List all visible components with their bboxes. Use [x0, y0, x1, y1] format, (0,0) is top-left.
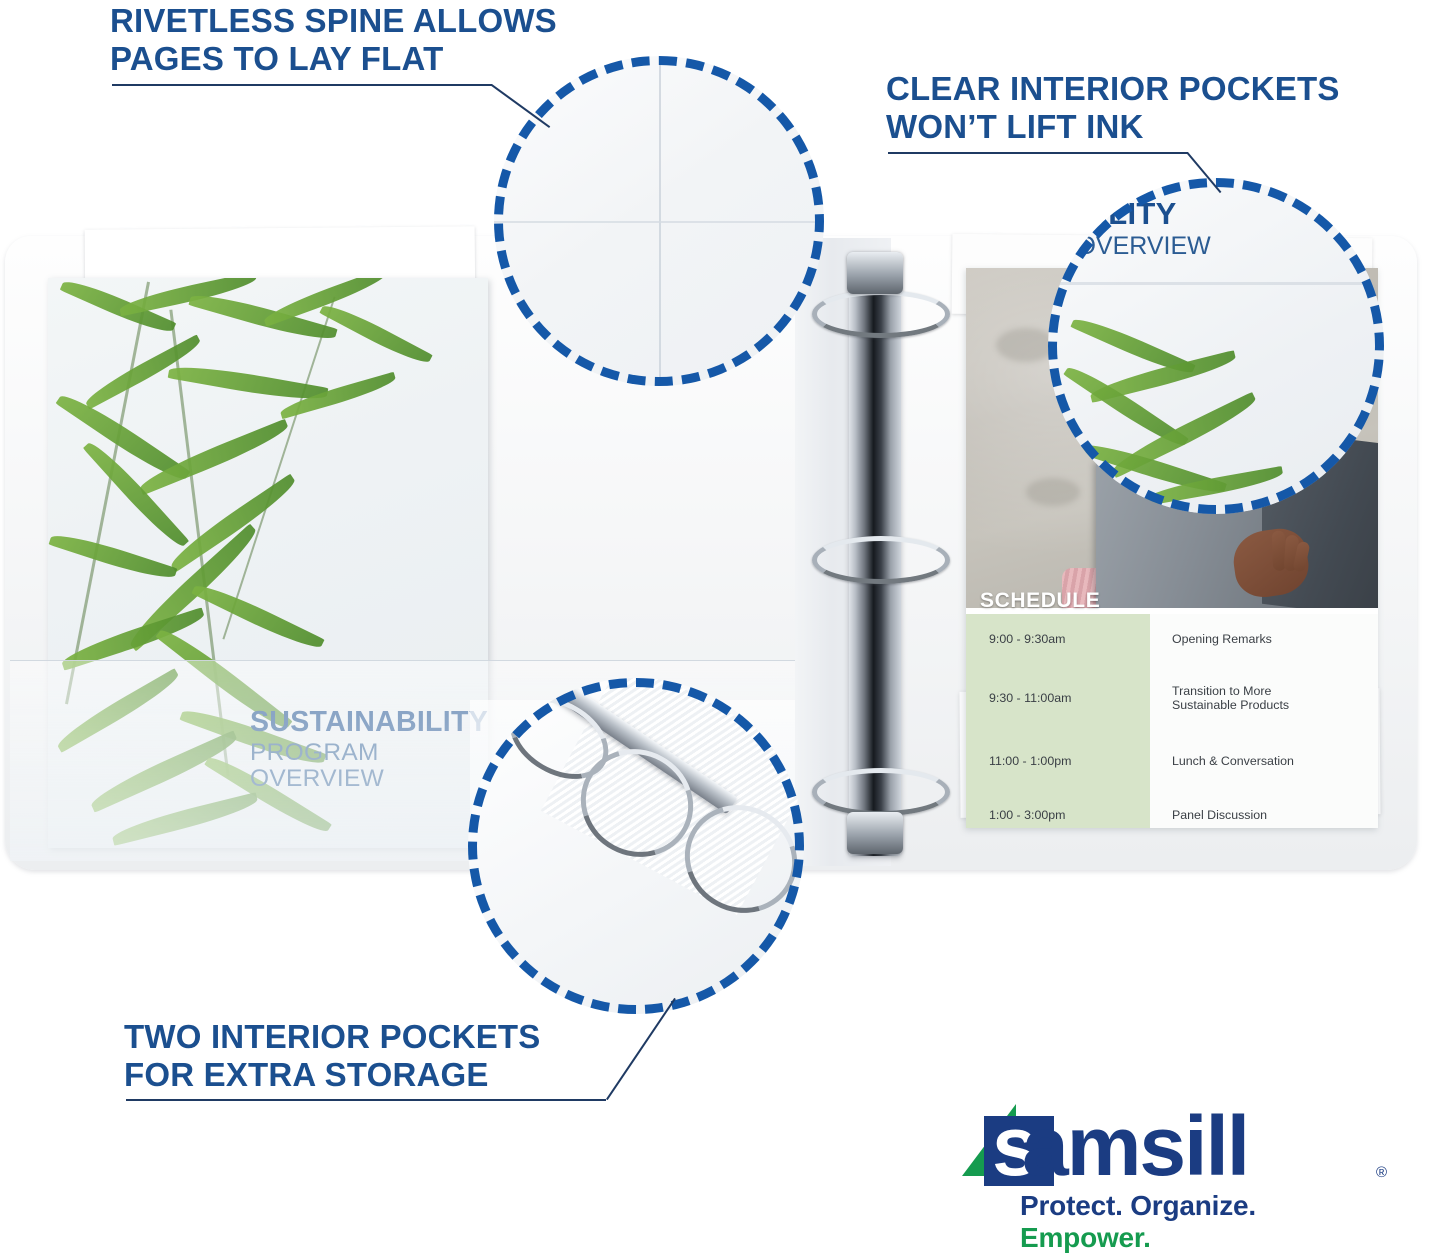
- callout-line-1: RIVETLESS SPINE ALLOWS: [110, 2, 557, 40]
- ring-clamp-top: [847, 252, 903, 294]
- schedule-time: 9:00 - 9:30am: [989, 632, 1065, 646]
- schedule-item: Panel Discussion: [1172, 808, 1267, 822]
- binder-ring-bottom: [812, 768, 950, 816]
- logo-wordmark: amsill: [1022, 1102, 1248, 1190]
- logo-tagline: Protect. Organize. Empower.: [1020, 1190, 1392, 1254]
- schedule-item-line2: Sustainable Products: [1172, 698, 1289, 712]
- samsill-logo: s amsill ® Protect. Organize. Empower.: [962, 1102, 1392, 1220]
- schedule-item-column: Opening Remarks Transition to More Susta…: [1150, 614, 1378, 828]
- callout-rule-bottom-left: [126, 1099, 606, 1101]
- callout-line-1: CLEAR INTERIOR POCKETS: [886, 70, 1340, 108]
- infographic-canvas: SUSTAINABILITY PROGRAM OVERVIEW: [0, 0, 1445, 1227]
- table-row: 9:30 - 11:00am: [966, 664, 1150, 732]
- schedule-item: Opening Remarks: [1172, 632, 1272, 646]
- callout-rivetless-spine: RIVETLESS SPINE ALLOWS PAGES TO LAY FLAT: [110, 2, 557, 79]
- table-row: 1:00 - 3:00pm: [966, 790, 1150, 828]
- schedule-time: 1:00 - 3:00pm: [989, 808, 1065, 822]
- table-row: 9:00 - 9:30am: [966, 614, 1150, 664]
- callout-two-pockets: TWO INTERIOR POCKETS FOR EXTRA STORAGE: [124, 1018, 541, 1095]
- schedule-item-line1: Transition to More: [1172, 684, 1289, 698]
- binder-ring-middle: [812, 536, 950, 584]
- zoom-circle-border-rings: [468, 678, 804, 1014]
- callout-line-1: TWO INTERIOR POCKETS: [124, 1018, 541, 1056]
- table-row: Panel Discussion: [1150, 790, 1378, 828]
- table-row: Lunch & Conversation: [1150, 732, 1378, 790]
- table-row: Transition to More Sustainable Products: [1150, 664, 1378, 732]
- schedule-time: 9:30 - 11:00am: [989, 691, 1071, 705]
- binder-ring-top: [812, 290, 950, 338]
- schedule-item: Lunch & Conversation: [1172, 754, 1294, 768]
- tagline-blue: Protect. Organize.: [1020, 1190, 1256, 1221]
- registered-trademark-icon: ®: [1376, 1164, 1387, 1181]
- callout-line-2: FOR EXTRA STORAGE: [124, 1056, 541, 1094]
- ring-clamp-bottom: [847, 812, 903, 854]
- table-row: Opening Remarks: [1150, 614, 1378, 664]
- schedule-time-column: 9:00 - 9:30am 9:30 - 11:00am 11:00 - 1:0…: [966, 614, 1150, 828]
- callout-clear-pockets: CLEAR INTERIOR POCKETS WON’T LIFT INK: [886, 70, 1340, 147]
- table-row: 11:00 - 1:00pm: [966, 732, 1150, 790]
- zoom-circle-border-pocket: [1048, 178, 1384, 514]
- schedule-table: 9:00 - 9:30am 9:30 - 11:00am 11:00 - 1:0…: [966, 614, 1378, 828]
- callout-line-2: PAGES TO LAY FLAT: [110, 40, 557, 78]
- zoom-circle-border-spine: [494, 56, 824, 386]
- callout-rule-top-left: [112, 84, 492, 86]
- schedule-heading: SCHEDULE: [980, 589, 1100, 613]
- callout-line-2: WON’T LIFT INK: [886, 108, 1340, 146]
- schedule-time: 11:00 - 1:00pm: [989, 754, 1071, 768]
- callout-rule-top-right: [888, 152, 1188, 154]
